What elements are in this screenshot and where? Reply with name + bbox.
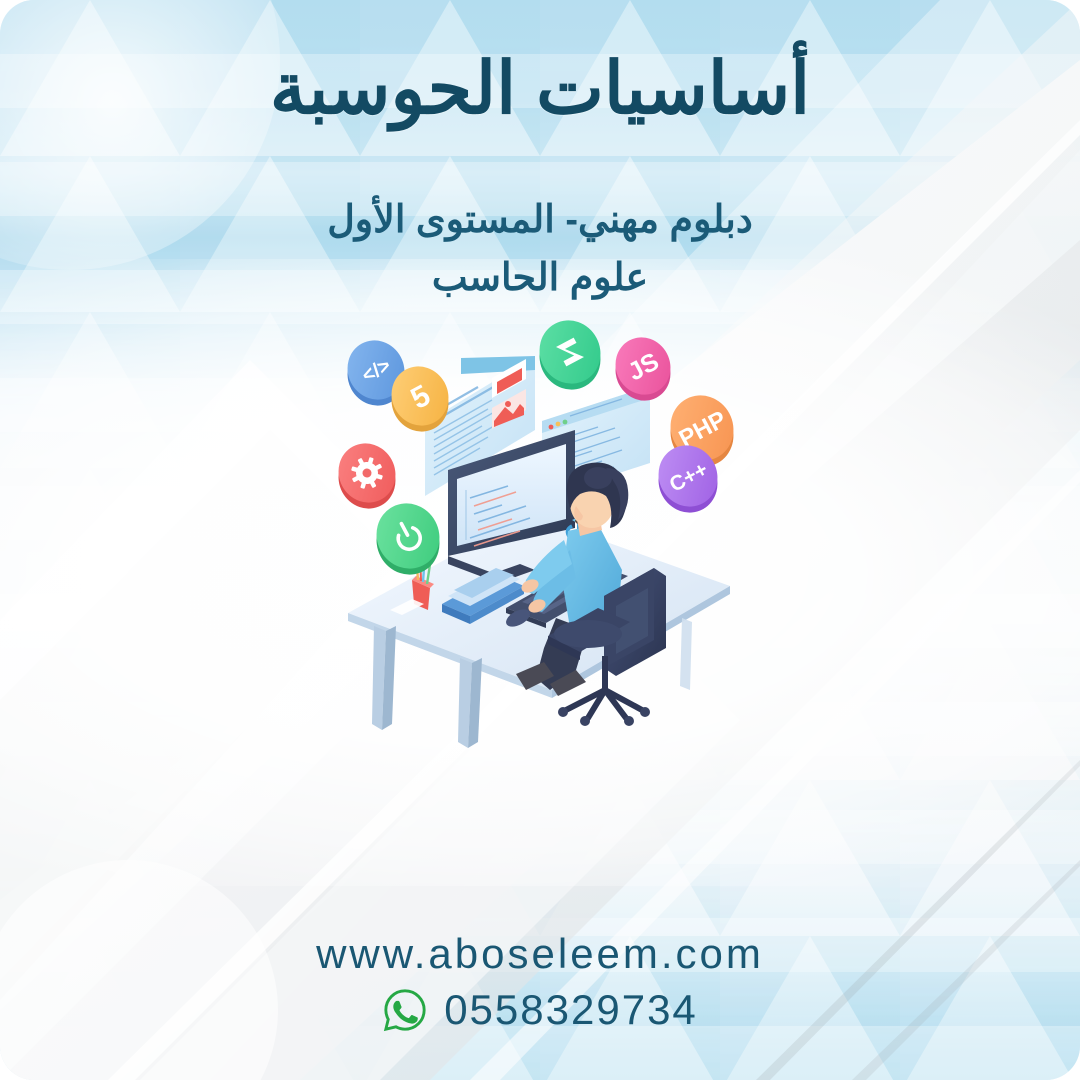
website-link[interactable]: www.aboseleem.com [0, 928, 1080, 981]
subtitle-line-1: دبلوم مهني- المستوى الأول [0, 192, 1080, 250]
poster-canvas: أساسيات الحوسبة دبلوم مهني- المستوى الأو… [0, 0, 1080, 1080]
phone-row: 0558329734 [0, 986, 1080, 1034]
subtitle-line-2: علوم الحاسب [0, 250, 1080, 308]
page-subtitle: دبلوم مهني- المستوى الأول علوم الحاسب [0, 192, 1080, 308]
whatsapp-icon[interactable] [382, 987, 428, 1033]
illustration-developer-at-desk: </> 5 JS [330, 318, 750, 748]
footer: www.aboseleem.com 0558329734 [0, 928, 1080, 1035]
badge-vue [528, 310, 611, 401]
page-title: أساسيات الحوسبة [0, 46, 1080, 134]
phone-number[interactable]: 0558329734 [444, 986, 698, 1034]
badge-gear [328, 433, 406, 518]
